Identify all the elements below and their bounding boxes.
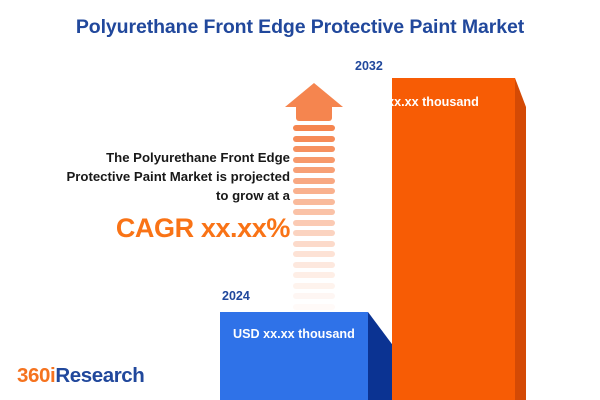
arrow-segment — [293, 220, 335, 226]
arrow-segment — [293, 125, 335, 131]
brand-logo[interactable]: 360iResearch — [17, 364, 144, 388]
arrow-segment — [293, 157, 335, 163]
arrow-segment — [293, 178, 335, 184]
logo-360i-text: 360i — [17, 364, 55, 387]
logo-research-text: Research — [55, 364, 144, 387]
bar-2024-front-face — [220, 312, 368, 400]
arrow-segment — [293, 136, 335, 142]
arrow-segment — [293, 293, 335, 299]
page-title: Polyurethane Front Edge Protective Paint… — [0, 16, 600, 39]
arrow-head-icon — [285, 83, 343, 107]
arrow-segment — [293, 230, 335, 236]
arrow-segment — [293, 283, 335, 289]
bar-2032-side-face — [515, 78, 526, 400]
arrow-segment — [293, 241, 335, 247]
bar-label-2024: 2024 — [222, 289, 250, 303]
arrow-segment — [293, 199, 335, 205]
arrow-segment — [293, 209, 335, 215]
bar-label-2032: 2032 — [355, 59, 383, 73]
arrow-segment — [293, 272, 335, 278]
statement-line-1: The Polyurethane Front Edge — [28, 148, 290, 167]
arrow-segment — [293, 251, 335, 257]
up-arrow-icon — [285, 83, 343, 281]
arrow-segment — [293, 188, 335, 194]
statement-line-3: to grow at a — [28, 186, 290, 205]
arrow-segment — [293, 262, 335, 268]
arrow-neck — [296, 107, 332, 121]
cagr-value: CAGR xx.xx% — [28, 214, 290, 242]
infographic-canvas: Polyurethane Front Edge Protective Paint… — [0, 0, 600, 400]
statement-line-2: Protective Paint Market is projected — [28, 167, 290, 186]
bar-2032-front-face — [392, 78, 515, 400]
bar-value-2032: USD xx.xx thousand — [357, 95, 479, 109]
arrow-segment — [293, 304, 335, 310]
arrow-segment — [293, 146, 335, 152]
statement-text: The Polyurethane Front Edge Protective P… — [28, 148, 290, 242]
arrow-segment — [293, 167, 335, 173]
bar-value-2024: USD xx.xx thousand — [233, 327, 355, 341]
bar-2024-side-face — [368, 312, 393, 400]
statement-block: The Polyurethane Front Edge Protective P… — [28, 148, 290, 242]
